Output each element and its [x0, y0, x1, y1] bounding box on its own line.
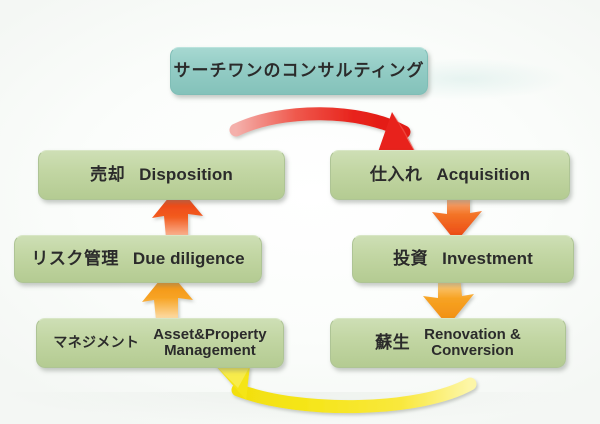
node-investment-en: Investment: [442, 249, 533, 268]
node-disposition-jp: 売却: [90, 165, 125, 184]
node-management-en: Asset&Property Management: [153, 327, 266, 360]
node-investment[interactable]: 投資 Investment: [352, 235, 574, 283]
background-tint-right: [418, 58, 568, 100]
node-renovation-en: Renovation & Conversion: [424, 327, 521, 360]
node-acquisition-jp: 仕入れ: [370, 165, 423, 184]
node-due-diligence-jp: リスク管理: [31, 249, 119, 268]
node-due-diligence-labels: リスク管理 Due diligence: [31, 249, 244, 268]
node-acquisition-labels: 仕入れ Acquisition: [370, 165, 530, 184]
node-consulting[interactable]: サーチワンのコンサルティング: [170, 47, 428, 95]
node-due-diligence[interactable]: リスク管理 Due diligence: [14, 235, 262, 283]
node-renovation-labels: 蘇生 Renovation & Conversion: [375, 327, 521, 360]
node-acquisition-en: Acquisition: [436, 165, 530, 184]
node-investment-labels: 投資 Investment: [393, 249, 533, 268]
node-consulting-labels: サーチワンのコンサルティング: [174, 61, 425, 80]
node-management[interactable]: マネジメント Asset&Property Management: [36, 318, 284, 368]
node-renovation-jp: 蘇生: [375, 333, 410, 352]
node-acquisition[interactable]: 仕入れ Acquisition: [330, 150, 570, 200]
diagram-canvas: サーチワンのコンサルティング 売却 Disposition 仕入れ Acquis…: [0, 0, 600, 424]
arrow-renovation-to-management: [214, 364, 470, 407]
background-tint-bottom: [10, 392, 570, 422]
node-renovation[interactable]: 蘇生 Renovation & Conversion: [330, 318, 566, 368]
node-consulting-jp: サーチワンのコンサルティング: [174, 61, 425, 80]
node-investment-jp: 投資: [393, 249, 428, 268]
node-management-jp: マネジメント: [53, 335, 139, 351]
node-disposition-en: Disposition: [139, 165, 233, 184]
node-due-diligence-en: Due diligence: [133, 249, 245, 268]
node-disposition[interactable]: 売却 Disposition: [38, 150, 285, 200]
node-management-labels: マネジメント Asset&Property Management: [53, 327, 266, 360]
node-disposition-labels: 売却 Disposition: [90, 165, 233, 184]
